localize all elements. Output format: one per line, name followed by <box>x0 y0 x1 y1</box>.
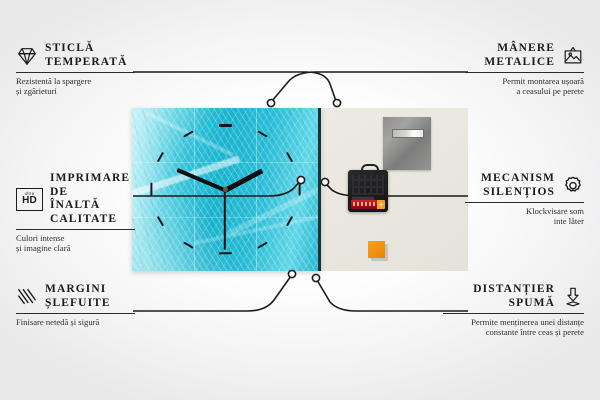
feature-subtitle-line2: și imagine clară <box>16 243 70 253</box>
leader-mechanism <box>326 184 468 196</box>
picture-frame-icon <box>562 45 584 67</box>
down-arrow-stack-icon <box>562 286 584 308</box>
feature-title-line1: MARGINI <box>45 283 106 295</box>
divider <box>465 72 584 73</box>
leader-dot-spacer <box>312 274 319 281</box>
feature-title-line2: SILENȚIOS <box>483 186 555 198</box>
leader-dot-mechanism <box>321 178 328 185</box>
leader-edges <box>133 276 291 311</box>
feature-polished-edges: MARGINI ȘLEFUITE Finisare netedă și sigu… <box>16 283 135 327</box>
divider <box>16 72 135 73</box>
feature-title-line1: STICLĂ <box>45 42 94 54</box>
feature-subtitle-line2: și zgârieturi <box>16 86 57 96</box>
feature-subtitle-line1: Rezistentă la spargere <box>16 76 91 86</box>
feature-title-line1: DISTANȚIER <box>473 283 555 295</box>
diamond-icon <box>16 45 38 67</box>
feature-subtitle-line2: inte låter <box>554 216 584 226</box>
leader-print <box>133 181 300 196</box>
feature-title-line2: TEMPERATĂ <box>45 56 128 68</box>
infographic-canvas: STICLĂ TEMPERATĂ Rezistentă la spargere … <box>0 0 600 400</box>
feature-title-line2: METALICE <box>484 56 555 68</box>
feature-title-line1: MÂNERE <box>497 42 555 54</box>
feature-subtitle-line1: Permit montarea ușoară <box>502 76 584 86</box>
feature-high-quality-print: ultra HD IMPRIMARE DE ÎNALTĂ CALITATE Cu… <box>16 172 135 254</box>
feature-subtitle-line1: Permite menținerea unei distanțe <box>471 317 584 327</box>
divider <box>465 202 584 203</box>
leader-dot-edges <box>288 270 295 277</box>
divider <box>443 313 584 314</box>
leader-tempered-glass <box>133 72 336 101</box>
hatching-lines-icon <box>16 286 38 308</box>
gear-icon <box>562 175 584 197</box>
feature-subtitle-line2: constante între ceas și perete <box>486 327 584 337</box>
leader-dot-tempered-glass <box>333 99 340 106</box>
leader-handles <box>272 72 468 101</box>
leader-dot-print <box>297 176 304 183</box>
feature-metal-handles: MÂNERE METALICE Permit montarea ușoară a… <box>465 42 584 97</box>
leader-dot-handles <box>267 99 274 106</box>
feature-title-line2: SPUMĂ <box>509 297 555 309</box>
feature-subtitle-line2: a ceasului pe perete <box>516 86 584 96</box>
feature-foam-spacer: DISTANȚIER SPUMĂ Permite menținerea unei… <box>443 283 584 338</box>
divider <box>16 313 135 314</box>
feature-subtitle-line1: Finisare netedă și sigură <box>16 317 99 327</box>
feature-title-line2: ÎNALTĂ CALITATE <box>50 199 117 225</box>
feature-title-line1: MECANISM <box>481 172 555 184</box>
feature-silent-mechanism: MECANISM SILENȚIOS Klockvisare som inte … <box>465 172 584 227</box>
ultra-hd-big-label: HD <box>22 196 37 206</box>
feature-title-line2: ȘLEFUITE <box>45 297 111 309</box>
feature-subtitle-line1: Culori intense <box>16 233 64 243</box>
feature-subtitle-line1: Klockvisare som <box>526 206 584 216</box>
feature-tempered-glass: STICLĂ TEMPERATĂ Rezistentă la spargere … <box>16 42 135 97</box>
feature-title-line1: IMPRIMARE DE <box>50 172 130 198</box>
divider <box>16 229 135 230</box>
ultra-hd-icon: ultra HD <box>16 188 43 211</box>
